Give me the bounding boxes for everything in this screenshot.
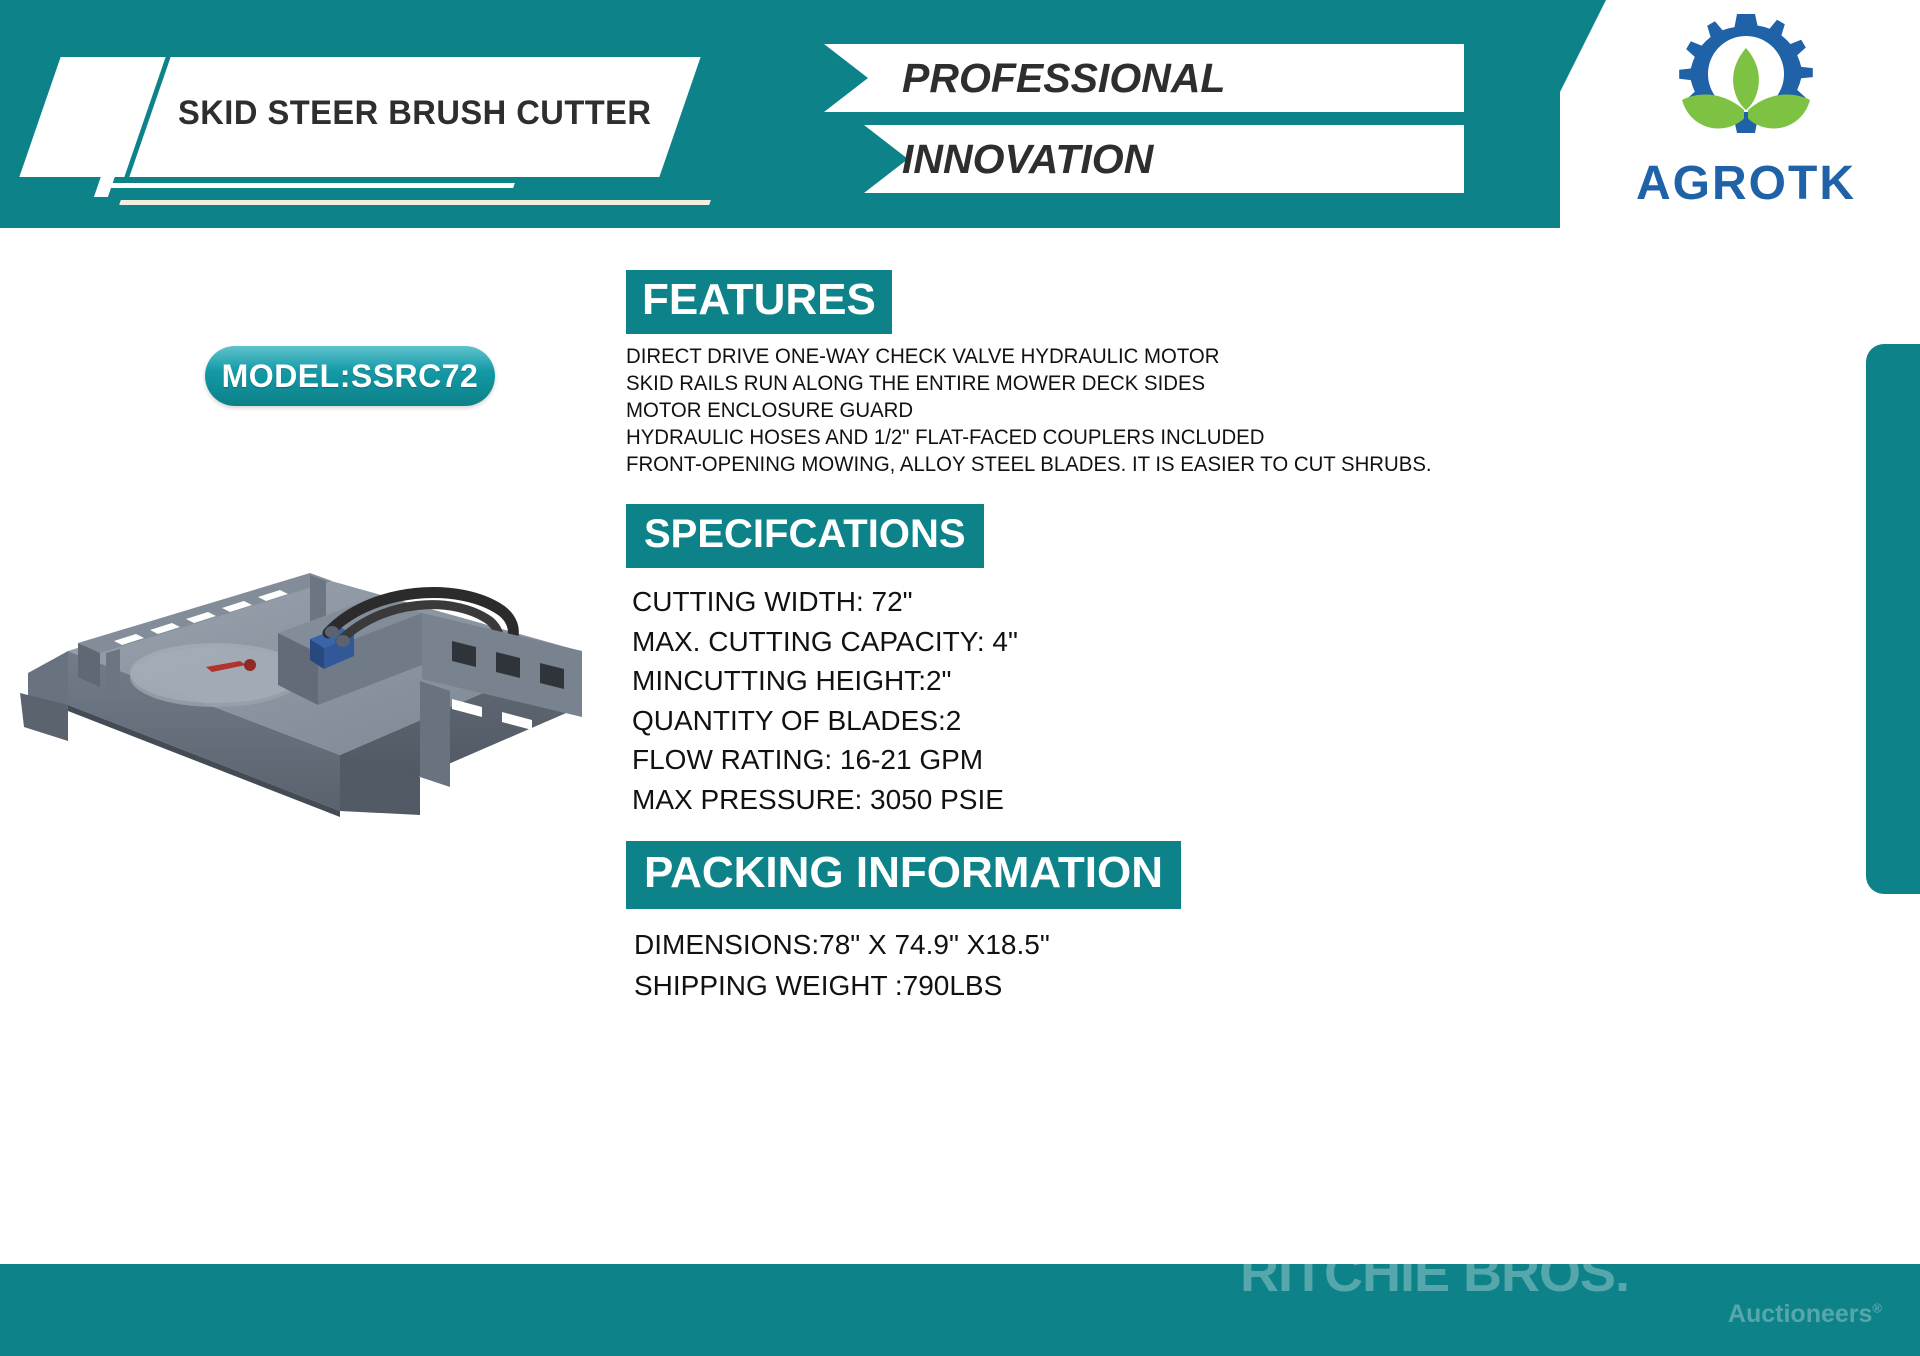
spacer-specs-packing [626,819,1386,841]
ritchie-bros-watermark: RITCHIE BROS. Auctioneers® [1240,1264,1900,1352]
footer-bar: RITCHIE BROS. Auctioneers® [0,1264,1920,1356]
model-badge: MODEL:SSRC72 [205,346,495,406]
tagline-innovation-label: INNOVATION [902,125,1153,193]
spec-item: MAX. CUTTING CAPACITY: 4" [632,622,1386,661]
spacer-features-specs [626,478,1386,504]
tagline-professional-label: PROFESSIONAL [902,44,1225,112]
specifications-heading: SPECIFCATIONS [626,504,984,568]
spec-item: FLOW RATING: 16-21 GPM [632,740,1386,779]
gear-leaf-icon [1656,8,1836,158]
feature-item: FRONT-OPENING MOWING, ALLOY STEEL BLADES… [626,452,1363,479]
agrotk-logo: AGROTK [1596,8,1896,220]
tagline-banner-innovation: INNOVATION [864,125,1464,193]
spec-sheet-page: SKID STEER BRUSH CUTTER PROFESSIONAL INN… [0,0,1920,1356]
packing-list: DIMENSIONS:78" X 74.9" X18.5" SHIPPING W… [634,925,1386,1006]
features-list: DIRECT DRIVE ONE-WAY CHECK VALVE HYDRAUL… [626,344,1386,478]
registered-mark-icon: ® [1872,1301,1882,1316]
banner-wedge-lower [1321,193,1499,213]
packing-item: SHIPPING WEIGHT :790LBS [634,966,1386,1007]
page-title: SKID STEER BRUSH CUTTER [178,78,677,148]
specifications-list: CUTTING WIDTH: 72" MAX. CUTTING CAPACITY… [632,582,1386,819]
feature-item: HYDRAULIC HOSES AND 1/2" FLAT-FACED COUP… [626,425,1363,452]
watermark-sub-text: Auctioneers® [1728,1300,1882,1329]
header-underline-lower [119,200,711,205]
header-underline-upper [103,183,515,188]
header-banner: SKID STEER BRUSH CUTTER PROFESSIONAL INN… [0,0,1920,228]
feature-item: SKID RAILS RUN ALONG THE ENTIRE MOWER DE… [626,371,1363,398]
packing-heading: PACKING INFORMATION [626,841,1181,909]
product-photo-brush-cutter [10,455,610,875]
spec-item: QUANTITY OF BLADES:2 [632,701,1386,740]
feature-item: DIRECT DRIVE ONE-WAY CHECK VALVE HYDRAUL… [626,344,1363,371]
spec-item: MINCUTTING HEIGHT:2" [632,661,1386,700]
right-edge-tab [1866,344,1920,894]
spec-item: CUTTING WIDTH: 72" [632,582,1386,621]
watermark-main-text: RITCHIE BROS. [1240,1264,1900,1304]
packing-item: DIMENSIONS:78" X 74.9" X18.5" [634,925,1386,966]
tagline-banner-professional: PROFESSIONAL [824,44,1464,112]
features-heading: FEATURES [626,270,892,334]
model-badge-label: MODEL:SSRC72 [222,358,479,395]
feature-item: MOTOR ENCLOSURE GUARD [626,398,1363,425]
agrotk-wordmark: AGROTK [1596,156,1896,211]
spec-content-column: FEATURES DIRECT DRIVE ONE-WAY CHECK VALV… [626,270,1386,1006]
spec-item: MAX PRESSURE: 3050 PSIE [632,780,1386,819]
